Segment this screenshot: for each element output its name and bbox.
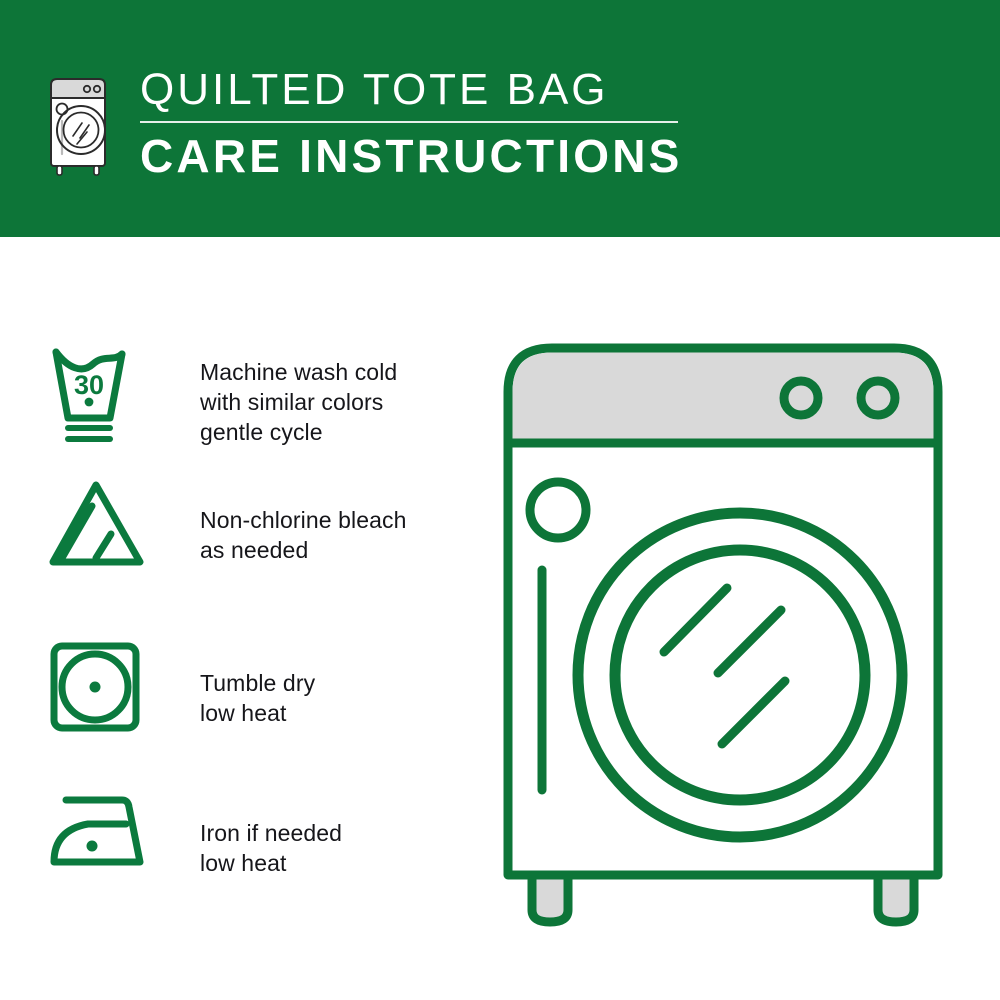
header-title-block: QUILTED TOTE BAG CARE INSTRUCTIONS <box>140 62 683 184</box>
wash-temperature-label: 30 <box>74 370 104 400</box>
care-item-tumble-dry: Tumble dry low heat <box>0 640 480 760</box>
iron-low-heat-icon <box>48 790 160 900</box>
title-divider <box>140 121 678 123</box>
header-banner: QUILTED TOTE BAG CARE INSTRUCTIONS <box>0 0 1000 237</box>
leg-left <box>532 875 568 922</box>
care-item-tumble-dry-label: Tumble dry low heat <box>200 668 315 728</box>
wash-basin-30-gentle-icon: 30 <box>48 342 160 452</box>
page-title-line1: QUILTED TOTE BAG <box>140 62 683 118</box>
leg-right <box>878 875 914 922</box>
care-symbol-list: 30 Machine wash cold with similar colors… <box>0 237 480 1000</box>
care-item-wash: 30 Machine wash cold with similar colors… <box>0 342 480 462</box>
care-item-bleach-label: Non-chlorine bleach as needed <box>200 505 406 565</box>
tumble-dry-low-heat-icon <box>48 640 160 750</box>
care-item-iron-label: Iron if needed low heat <box>200 818 342 878</box>
control-panel <box>513 353 934 444</box>
care-item-bleach: Non-chlorine bleach as needed <box>0 480 480 600</box>
non-chlorine-bleach-triangle-icon <box>48 480 160 590</box>
page-title-line2: CARE INSTRUCTIONS <box>140 128 683 184</box>
front-load-washing-machine-illustration <box>490 330 980 930</box>
care-instructions-infographic: QUILTED TOTE BAG CARE INSTRUCTIONS 30 Ma… <box>0 0 1000 1000</box>
care-item-iron: Iron if needed low heat <box>0 790 480 910</box>
washing-machine-icon <box>44 68 112 178</box>
care-item-wash-label: Machine wash cold with similar colors ge… <box>200 357 397 447</box>
